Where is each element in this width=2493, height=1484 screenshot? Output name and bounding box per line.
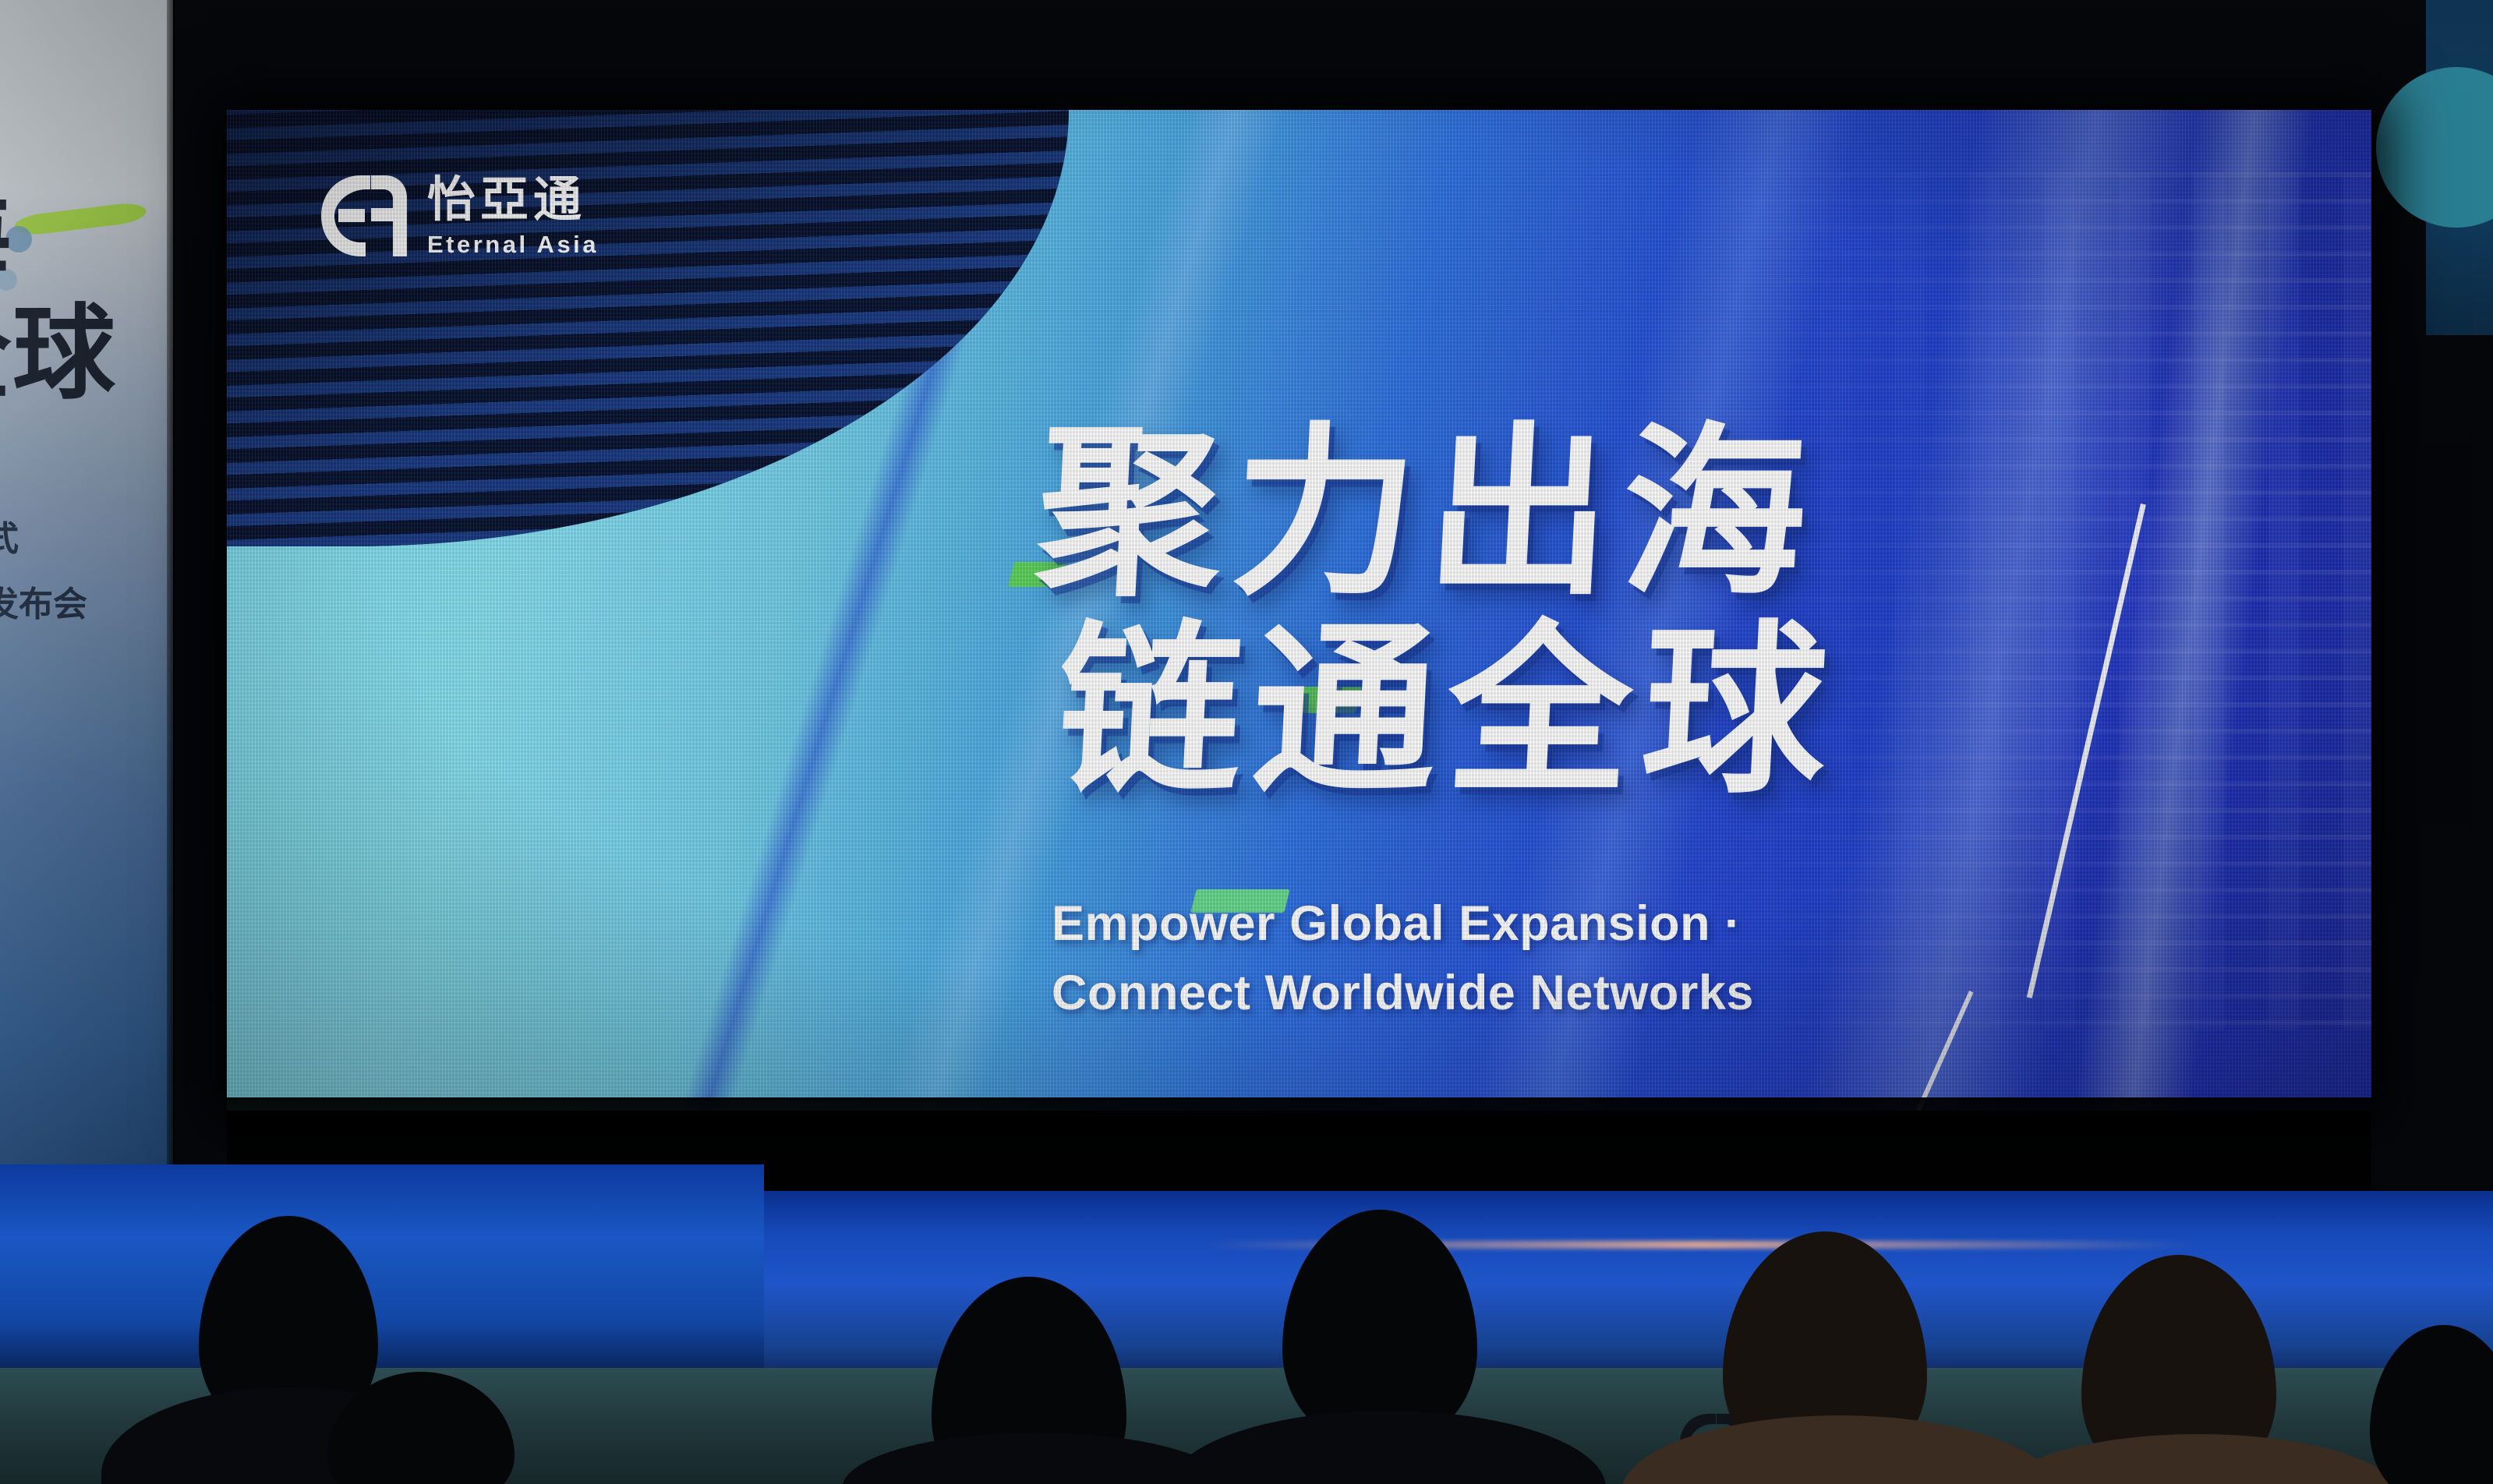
left-banner-sub-line2: 战略发布会: [0, 572, 150, 638]
headline-line-1: 聚力出海: [1033, 422, 2212, 606]
headline-line-2: 链通全球: [1053, 620, 2212, 804]
logo-chinese-name: 怡亞通: [427, 176, 599, 224]
banner-swoosh-accent: [13, 201, 147, 238]
left-banner-sub-line1: 动仪式: [0, 507, 150, 572]
pillar-edge-shadow: [167, 0, 175, 1361]
eternal-asia-logo: 怡亞通 Eternal Asia: [316, 172, 599, 260]
logo-text-block: 怡亞通 Eternal Asia: [427, 176, 599, 256]
banner-dot-icon: [5, 226, 32, 253]
stage-wall-left: [0, 1164, 764, 1375]
left-banner-subtitle: 动仪式 战略发布会: [0, 507, 150, 637]
right-edge-panel: [2426, 0, 2493, 335]
left-banner-title-line1: 海: [0, 187, 142, 295]
subtitle-line-2: Connect Worldwide Networks: [1052, 959, 1754, 1028]
left-banner-title-line2: 全球: [0, 300, 142, 408]
scene-root: 海 全球 动仪式 战略发布会: [0, 0, 2493, 1484]
logo-english-name: Eternal Asia: [427, 232, 599, 256]
ea-monogram-icon: [316, 172, 407, 260]
banner-dot-icon: [0, 269, 17, 291]
left-banner-title: 海 全球: [0, 187, 142, 408]
subtitle-line-1: Empower Global Expansion ·: [1052, 889, 1754, 959]
led-screen: 怡亞通 Eternal Asia 聚力出海 链通全球 Empower Globa…: [227, 110, 2371, 1111]
headline-block: 聚力出海 链通全球: [1038, 422, 2207, 804]
subtitle-block: Empower Global Expansion · Connect World…: [1052, 889, 1754, 1029]
left-banner-pillar: 海 全球 动仪式 战略发布会: [0, 0, 173, 1361]
